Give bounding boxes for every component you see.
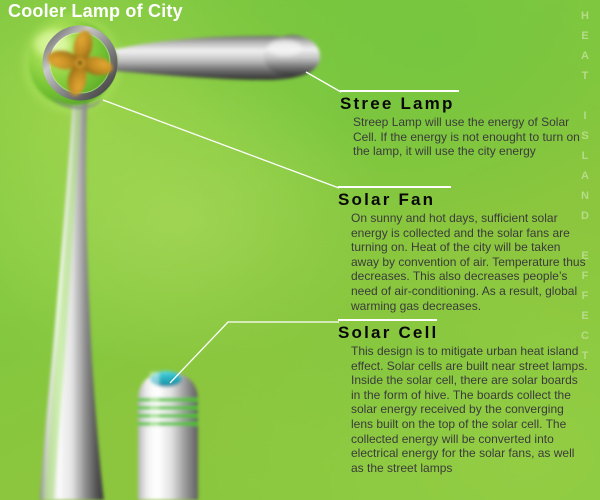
callout-heading: Solar Fan	[338, 190, 596, 209]
solar-cell	[138, 371, 198, 500]
callout-rule	[338, 319, 437, 321]
side-letter: T	[574, 66, 596, 86]
side-letter: A	[574, 46, 596, 66]
leader-street-lamp	[306, 72, 341, 92]
leader-lines	[103, 72, 341, 383]
lamp-arm	[104, 35, 320, 80]
callout-rule	[340, 90, 459, 92]
callout-body: Streep Lamp will use the energy of Solar…	[340, 115, 591, 159]
leader-solar-fan	[103, 100, 339, 188]
poster-canvas: Cooler Lamp of City H E A T I S L A N D …	[0, 0, 600, 500]
callout-rule	[338, 186, 451, 188]
page-title: Cooler Lamp of City	[8, 1, 183, 22]
callout-body: This design is to mitigate urban heat is…	[338, 344, 589, 475]
side-letter: E	[574, 26, 596, 46]
callout-heading: Stree Lamp	[340, 94, 596, 113]
callout-body: On sunny and hot days, sufficient solar …	[338, 211, 589, 313]
leader-solar-cell	[170, 322, 339, 383]
side-letter: H	[574, 6, 596, 26]
callout-solar-cell: Solar Cell This design is to mitigate ur…	[338, 319, 596, 475]
side-letter: A	[574, 166, 596, 186]
callout-solar-fan: Solar Fan On sunny and hot days, suffici…	[338, 186, 596, 313]
callout-heading: Solar Cell	[338, 323, 596, 342]
callout-street-lamp: Stree Lamp Streep Lamp will use the ener…	[340, 90, 596, 159]
